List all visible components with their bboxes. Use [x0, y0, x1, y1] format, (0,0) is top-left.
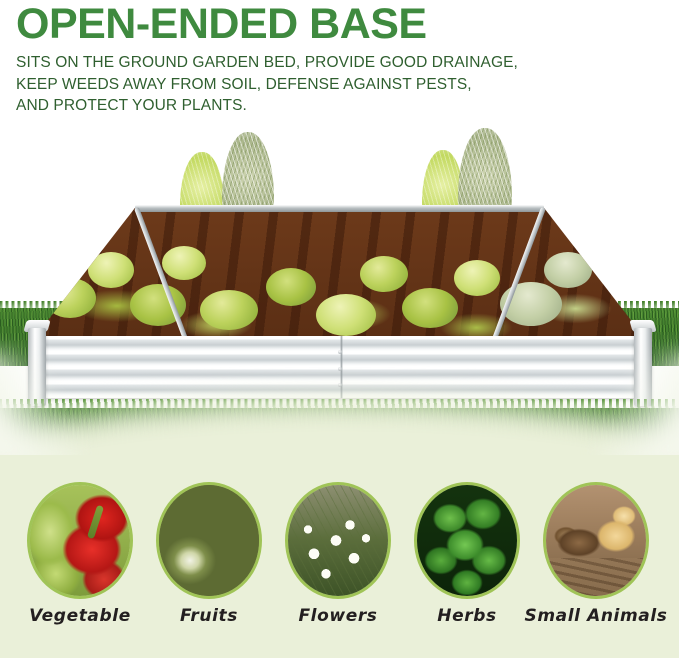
- panel-rivet: [338, 383, 342, 387]
- bed-front-panel: [30, 336, 650, 398]
- subtitle-line-3: AND PROTECT YOUR PLANTS.: [16, 95, 518, 117]
- vegetables-photo: [27, 482, 133, 599]
- plant-clump: [200, 290, 258, 330]
- page-title: OPEN-ENDED BASE: [16, 2, 427, 46]
- flowers-photo: [285, 482, 391, 599]
- subtitle-line-1: SITS ON THE GROUND GARDEN BED, PROVIDE G…: [16, 52, 518, 74]
- photo-fade-right: [599, 350, 679, 470]
- raised-garden-bed-photo: [0, 120, 679, 470]
- panel-rivet: [338, 350, 342, 354]
- category-item-vegetable: Vegetable: [27, 482, 133, 626]
- panel-rivet: [338, 367, 342, 371]
- category-label: Fruits: [156, 606, 262, 626]
- product-infographic: OPEN-ENDED BASE SITS ON THE GROUND GARDE…: [0, 0, 679, 658]
- plant-clump: [88, 252, 134, 288]
- subtitle-block: SITS ON THE GROUND GARDEN BED, PROVIDE G…: [16, 52, 518, 117]
- category-label: Vegetable: [27, 606, 133, 626]
- bed-back-rail: [135, 205, 544, 212]
- header-block: OPEN-ENDED BASE SITS ON THE GROUND GARDE…: [0, 0, 679, 128]
- plant-clump: [44, 278, 96, 318]
- photo-fade-left: [0, 350, 80, 470]
- plant-clump: [544, 252, 592, 288]
- garden-bed: [30, 208, 650, 408]
- category-label: Small Animals: [521, 606, 671, 626]
- category-item-fruits: Fruits: [156, 482, 262, 626]
- chicks-photo: [543, 482, 649, 599]
- plant-clump: [266, 268, 316, 306]
- plant-clump: [316, 294, 376, 336]
- category-item-flowers: Flowers: [285, 482, 391, 626]
- fruits-photo: [156, 482, 262, 599]
- category-label: Herbs: [414, 606, 520, 626]
- plant-clump: [360, 256, 408, 292]
- subtitle-line-2: KEEP WEEDS AWAY FROM SOIL, DEFENSE AGAIN…: [16, 74, 518, 96]
- category-strip: Vegetable Fruits Flowers Herbs Small Ani…: [0, 455, 679, 658]
- category-item-herbs: Herbs: [414, 482, 520, 626]
- category-label: Flowers: [285, 606, 391, 626]
- plant-clump: [402, 288, 458, 328]
- plant-clump: [162, 246, 206, 280]
- category-item-small-animals: Small Animals: [543, 482, 671, 626]
- soil-surface: [30, 208, 650, 344]
- plant-clump: [454, 260, 500, 296]
- herbs-photo: [414, 482, 520, 599]
